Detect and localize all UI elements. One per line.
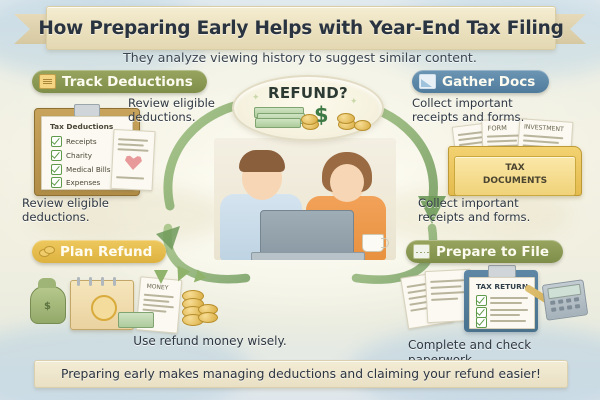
- sparkle-ray: [190, 270, 207, 287]
- man-hair: [239, 150, 285, 172]
- folder-icon: [419, 74, 436, 89]
- coin: [354, 120, 371, 131]
- section-header-gather-docs: Gather Docs: [412, 70, 549, 93]
- section-header-plan-refund: Plan Refund: [32, 240, 166, 263]
- receipt-label: MONEY: [146, 283, 168, 292]
- coin: [337, 113, 355, 124]
- checkbox-icon: [476, 295, 487, 306]
- section-header-track-deductions: Track Deductions: [32, 70, 207, 93]
- card-icon: [39, 74, 56, 89]
- checkbox-icon: [476, 317, 487, 328]
- checkbox-icon: [51, 177, 62, 188]
- checkbox-icon: [51, 136, 62, 147]
- pill-label: Plan Refund: [60, 244, 152, 260]
- caption-track-deductions-repeat: Review eligible deductions.: [22, 196, 126, 225]
- checklist-item: Medical Bills: [66, 165, 111, 174]
- tax-documents-folder: FORM INVESTMENT TAX DOCUMENTS: [448, 118, 588, 198]
- heart-icon: [124, 155, 142, 171]
- cash-stack: [254, 107, 304, 125]
- page-subtitle: They analyze viewing history to suggest …: [0, 50, 600, 65]
- folder-front: TAX DOCUMENTS: [454, 156, 576, 196]
- checkbox-icon: [51, 164, 62, 175]
- sparkle-icon: ✦: [252, 93, 260, 103]
- sparkle-ray: [154, 270, 168, 284]
- checklist-item: Charity: [66, 151, 92, 160]
- refund-bubble: REFUND? ✦ ✦ $: [232, 75, 384, 141]
- caption-track-deductions: Review eligible deductions.: [128, 96, 224, 125]
- folder-label-line1: TAX: [455, 163, 575, 173]
- coffee-mug-icon: [362, 234, 384, 252]
- footer-text: Preparing early makes managing deduction…: [61, 367, 541, 381]
- pill-label: Track Deductions: [62, 74, 193, 90]
- checkbox-icon: [51, 150, 62, 161]
- side-receipt: [110, 129, 155, 191]
- paper-label-investment: INVESTMENT: [524, 124, 564, 134]
- caption-gather-docs-repeat: Collect important receipts and forms.: [418, 196, 550, 225]
- folder-label-line2: DOCUMENTS: [455, 176, 575, 186]
- documents-icon: [413, 244, 430, 259]
- pill-label: Prepare to File: [436, 244, 549, 260]
- money-bag-icon: $: [30, 286, 66, 324]
- caption-gather-docs: Collect important receipts and forms.: [412, 96, 562, 125]
- checklist-item: Expenses: [66, 178, 100, 187]
- woman-face: [330, 164, 364, 200]
- coin: [198, 312, 218, 323]
- clipboard-title: Tax Deductions: [50, 122, 113, 131]
- refund-planning-illustration: $ MONEY: [26, 272, 216, 336]
- money-bag-tie: [38, 278, 56, 288]
- cash-note: [118, 312, 154, 328]
- sparkle-icon: ✦: [350, 97, 358, 107]
- section-header-prepare-to-file: Prepare to File: [406, 240, 563, 263]
- coins-icon: [39, 245, 54, 258]
- tax-return-paper: TAX RETURN: [469, 277, 535, 329]
- coin: [301, 114, 318, 125]
- laptop-icon: [260, 210, 354, 256]
- title-ribbon: How Preparing Early Helps with Year-End …: [46, 6, 556, 50]
- paper-label-form: FORM: [487, 124, 507, 133]
- checklist-item: Receipts: [66, 137, 97, 146]
- tax-return-illustration: TAX RETURN: [404, 268, 590, 338]
- footer-banner: Preparing early makes managing deduction…: [34, 360, 568, 388]
- page-title: How Preparing Early Helps with Year-End …: [38, 18, 563, 39]
- infographic-poster: How Preparing Early Helps with Year-End …: [0, 0, 600, 400]
- calculator-icon: [542, 279, 589, 320]
- caption-plan-refund: Use refund money wisely.: [120, 334, 300, 349]
- pill-label: Gather Docs: [442, 74, 535, 90]
- people-illustration: [214, 138, 396, 260]
